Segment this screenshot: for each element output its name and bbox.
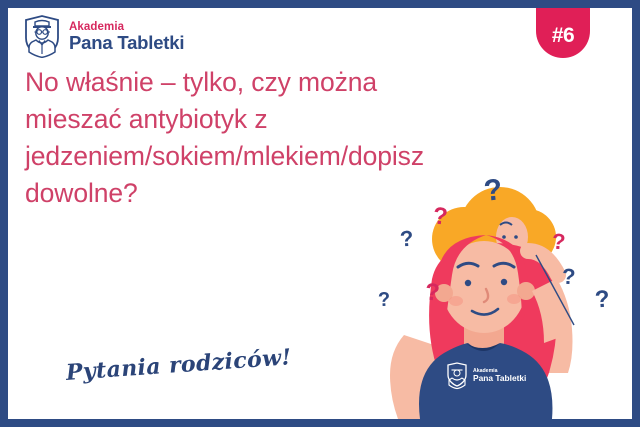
- question-mark-icon: ?: [482, 175, 503, 207]
- question-mark-icon: ?: [594, 288, 610, 313]
- question-mark-icon: ?: [399, 228, 414, 251]
- episode-number-badge: #6: [536, 8, 590, 58]
- shield-pharmacist-icon: [22, 14, 62, 58]
- question-mark-icon: ?: [377, 290, 390, 311]
- badge-label: #6: [552, 24, 574, 48]
- info-card: Akademia Pana Tabletki #6 No właśnie – t…: [0, 0, 640, 427]
- logo-wordmark: Akademia Pana Tabletki: [69, 20, 184, 53]
- question-mark-icon: ?: [432, 204, 449, 229]
- question-mark-icon: ?: [561, 266, 576, 289]
- question-mark-icon: ?: [424, 280, 441, 305]
- headline-line-1: No właśnie – tylko, czy można: [25, 64, 525, 101]
- brand-logo: Akademia Pana Tabletki: [22, 14, 184, 58]
- logo-line-pana-tabletki: Pana Tabletki: [69, 34, 184, 53]
- confused-woman-illustration: Akademia Pana Tabletki ?????????: [360, 159, 632, 419]
- question-mark-icon: ?: [551, 231, 566, 254]
- svg-text:Pana Tabletki: Pana Tabletki: [473, 373, 526, 383]
- headline-line-2: mieszać antybiotyk z: [25, 101, 525, 138]
- series-caption: Pytania rodziców!: [65, 344, 292, 386]
- card-inner-surface: Akademia Pana Tabletki #6 No właśnie – t…: [8, 8, 632, 419]
